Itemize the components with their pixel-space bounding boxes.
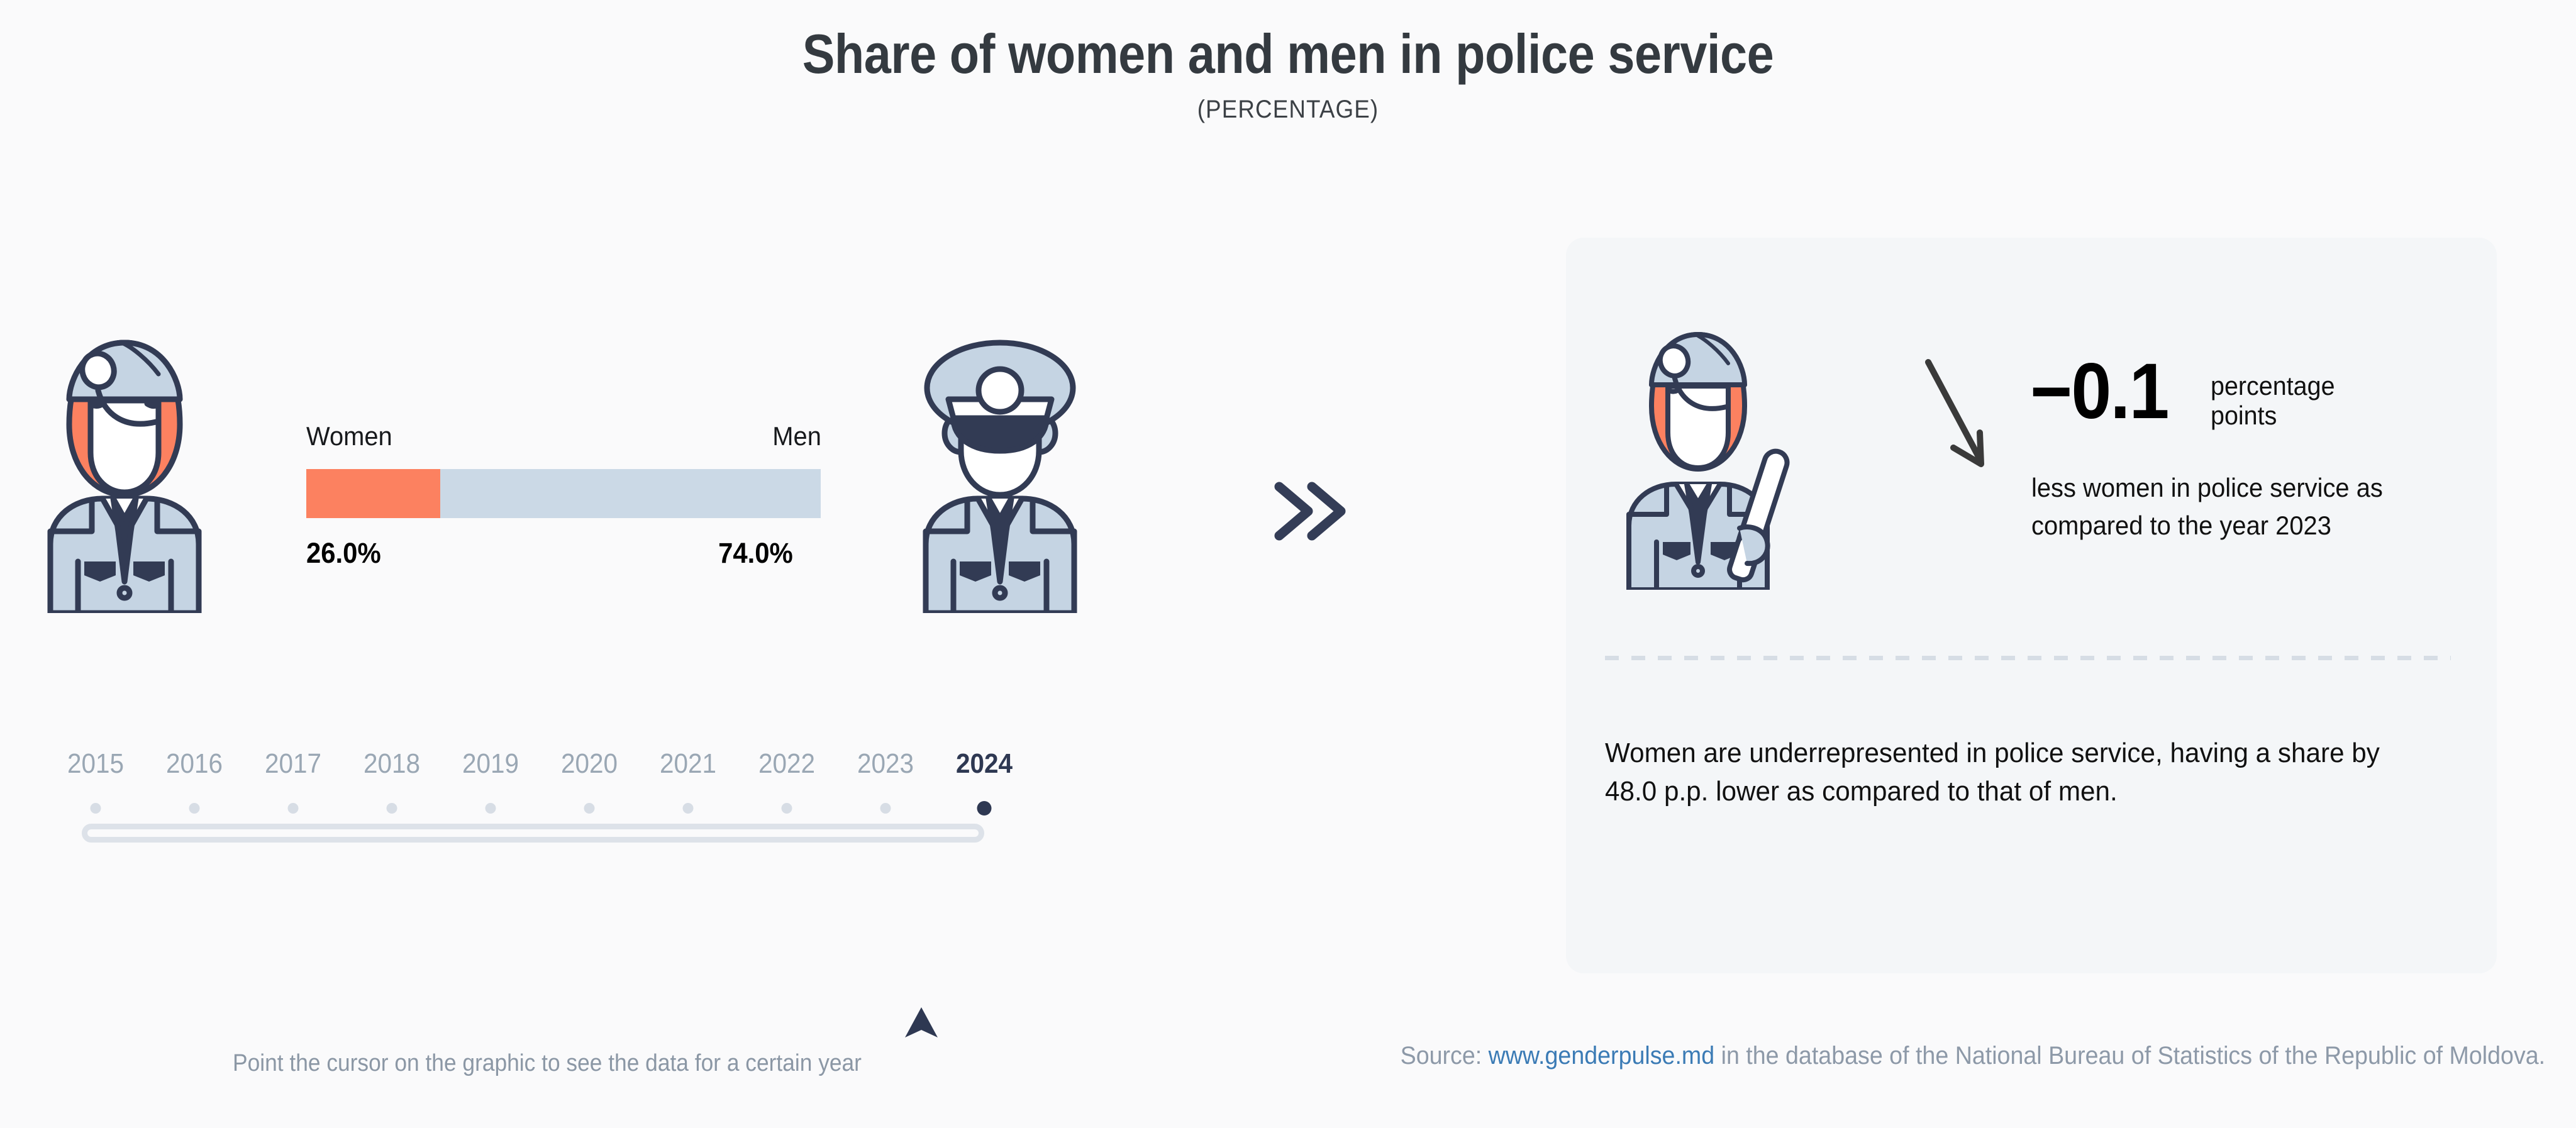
source-suffix: in the database of the National Bureau o… (1714, 1042, 2545, 1070)
year-dot-2017[interactable] (288, 803, 299, 814)
year-dot-2023[interactable] (880, 803, 891, 814)
bar-endpoint-labels: Women Men (306, 421, 821, 451)
double-chevron-right-icon (1270, 477, 1352, 546)
bar-segment-women[interactable] (306, 469, 440, 518)
bar-value-labels: 26.0% 74.0% (306, 537, 793, 570)
bar-label-men: Men (772, 421, 821, 451)
delta-value: −0.1 (2030, 355, 2168, 429)
year-labels: 2015201620172018201920202021202220232024 (82, 748, 1013, 783)
source-prefix: Source: (1401, 1042, 1489, 1070)
bar-track[interactable] (306, 469, 821, 518)
page-title: Share of women and men in police service (155, 26, 2421, 82)
timeline-track[interactable] (82, 824, 984, 843)
year-label-2020[interactable]: 2020 (561, 748, 618, 780)
year-dot-2022[interactable] (782, 803, 792, 814)
year-label-2021[interactable]: 2021 (660, 748, 716, 780)
bar-segment-men[interactable] (440, 469, 821, 518)
year-dot-2016[interactable] (189, 803, 200, 814)
year-label-2024[interactable]: 2024 (956, 748, 1013, 780)
year-label-2017[interactable]: 2017 (265, 748, 321, 780)
year-label-2018[interactable]: 2018 (364, 748, 420, 780)
insight-note: Women are underrepresented in police ser… (1605, 734, 2396, 810)
page-subtitle: (PERCENTAGE) (103, 96, 2473, 124)
delta-stat: −0.1 percentage points (2030, 355, 2343, 430)
year-label-2015[interactable]: 2015 (67, 748, 124, 780)
year-dot-2015[interactable] (91, 803, 101, 814)
year-label-2023[interactable]: 2023 (857, 748, 914, 780)
year-dot-2018[interactable] (387, 803, 397, 814)
year-dots[interactable] (82, 800, 1013, 822)
year-dot-2019[interactable] (486, 803, 496, 814)
delta-description: less women in police service as compared… (2031, 469, 2402, 544)
year-dot-2024[interactable] (977, 801, 992, 816)
delta-unit: percentage points (2211, 371, 2335, 430)
policewoman-with-baton-icon (1616, 326, 1818, 590)
chart-area: Women Men 26.0% 74.0% (0, 214, 1522, 918)
panel-divider (1605, 656, 2451, 660)
bar-value-women: 26.0% (306, 537, 381, 570)
insight-panel: −0.1 percentage points less women in pol… (1566, 238, 2497, 973)
bar-label-women: Women (306, 421, 392, 451)
chart-header: Share of women and men in police service… (0, 0, 2576, 124)
down-trend-arrow-icon (1919, 352, 2014, 472)
year-dot-2021[interactable] (683, 803, 694, 814)
policewoman-icon (30, 330, 219, 613)
policeman-icon (906, 330, 1094, 613)
source-footer: Source: www.genderpulse.md in the databa… (155, 1042, 2576, 1070)
year-dot-2020[interactable] (584, 803, 595, 814)
year-label-2016[interactable]: 2016 (166, 748, 223, 780)
year-label-2022[interactable]: 2022 (758, 748, 815, 780)
share-bar-chart: Women Men 26.0% 74.0% (306, 421, 821, 570)
year-label-2019[interactable]: 2019 (462, 748, 519, 780)
bar-value-men: 74.0% (718, 537, 793, 570)
source-link[interactable]: www.genderpulse.md (1489, 1042, 1714, 1070)
year-timeline[interactable]: 2015201620172018201920202021202220232024 (82, 748, 1013, 843)
